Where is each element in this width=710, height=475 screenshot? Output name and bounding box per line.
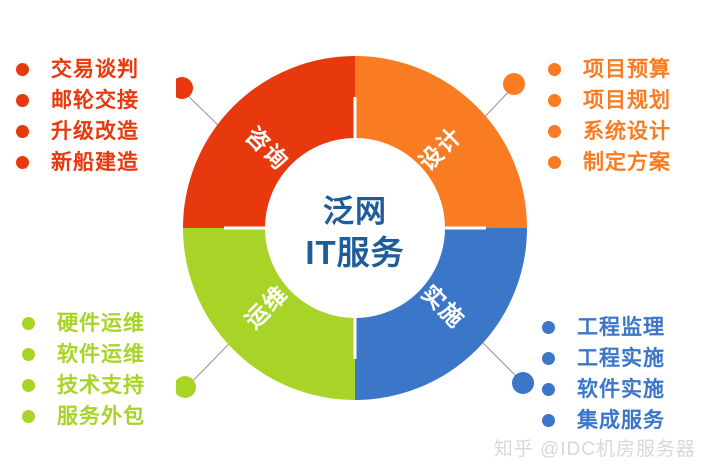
bullet-dot-icon bbox=[542, 383, 555, 396]
list-item-label: 邮轮交接 bbox=[51, 90, 139, 111]
list-item-label: 项目预算 bbox=[583, 59, 671, 80]
list-item-label: 工程实施 bbox=[577, 348, 665, 369]
list-item-label: 软件实施 bbox=[577, 379, 665, 400]
list-item: 服务外包 bbox=[22, 401, 145, 432]
bullet-dot-icon bbox=[22, 317, 35, 330]
bullet-list-implementation: 工程监理 工程实施 软件实施 集成服务 bbox=[542, 312, 665, 436]
list-item: 工程监理 bbox=[542, 312, 665, 343]
list-item: 交易谈判 bbox=[16, 54, 139, 85]
list-item: 软件实施 bbox=[542, 374, 665, 405]
bullet-dot-icon bbox=[22, 348, 35, 361]
list-item: 项目预算 bbox=[548, 54, 671, 85]
list-item-label: 项目规划 bbox=[583, 90, 671, 111]
connector-dot-design bbox=[503, 73, 525, 95]
list-item-label: 新船建造 bbox=[51, 152, 139, 173]
list-item-label: 服务外包 bbox=[57, 406, 145, 427]
bullet-dot-icon bbox=[548, 125, 561, 138]
watermark-text: 知乎 @IDC机房服务器 bbox=[494, 434, 696, 461]
list-item: 技术支持 bbox=[22, 370, 145, 401]
bullet-list-design: 项目预算 项目规划 系统设计 制定方案 bbox=[548, 54, 671, 178]
list-item: 工程实施 bbox=[542, 343, 665, 374]
bullet-dot-icon bbox=[22, 379, 35, 392]
center-title-line2: IT服务 bbox=[305, 234, 404, 271]
list-item: 软件运维 bbox=[22, 339, 145, 370]
bullet-dot-icon bbox=[542, 321, 555, 334]
list-item: 硬件运维 bbox=[22, 308, 145, 339]
infographic-canvas: 交易谈判 邮轮交接 升级改造 新船建造 项目预算 项目规划 系统设计 bbox=[0, 0, 710, 475]
list-item-label: 制定方案 bbox=[583, 152, 671, 173]
bullet-list-consulting: 交易谈判 邮轮交接 升级改造 新船建造 bbox=[16, 54, 139, 178]
bullet-dot-icon bbox=[542, 352, 555, 365]
list-item-label: 交易谈判 bbox=[51, 59, 139, 80]
list-item-label: 软件运维 bbox=[57, 344, 145, 365]
list-item: 制定方案 bbox=[548, 147, 671, 178]
list-item: 新船建造 bbox=[16, 147, 139, 178]
bullet-dot-icon bbox=[16, 156, 29, 169]
list-item-label: 系统设计 bbox=[583, 121, 671, 142]
bullet-dot-icon bbox=[16, 125, 29, 138]
list-item: 项目规划 bbox=[548, 85, 671, 116]
list-item: 集成服务 bbox=[542, 405, 665, 436]
list-item-label: 硬件运维 bbox=[57, 313, 145, 334]
list-item: 系统设计 bbox=[548, 116, 671, 147]
bullet-dot-icon bbox=[542, 414, 555, 427]
connector-dot-operations bbox=[176, 376, 196, 398]
list-item-label: 工程监理 bbox=[577, 317, 665, 338]
bullet-dot-icon bbox=[16, 94, 29, 107]
connector-dot-implementation bbox=[512, 372, 534, 394]
list-item: 升级改造 bbox=[16, 116, 139, 147]
bullet-dot-icon bbox=[548, 156, 561, 169]
list-item-label: 集成服务 bbox=[577, 410, 665, 431]
list-item: 邮轮交接 bbox=[16, 85, 139, 116]
bullet-dot-icon bbox=[548, 63, 561, 76]
bullet-list-operations: 硬件运维 软件运维 技术支持 服务外包 bbox=[22, 308, 145, 432]
list-item-label: 升级改造 bbox=[51, 121, 139, 142]
bullet-dot-icon bbox=[16, 63, 29, 76]
bullet-dot-icon bbox=[22, 410, 35, 423]
donut-chart: 咨询 设计 运维 实施 泛网 IT服务 bbox=[176, 50, 534, 410]
connector-dot-consulting bbox=[176, 77, 193, 99]
center-title-line1: 泛网 bbox=[323, 194, 387, 229]
bullet-dot-icon bbox=[548, 94, 561, 107]
list-item-label: 技术支持 bbox=[57, 375, 145, 396]
